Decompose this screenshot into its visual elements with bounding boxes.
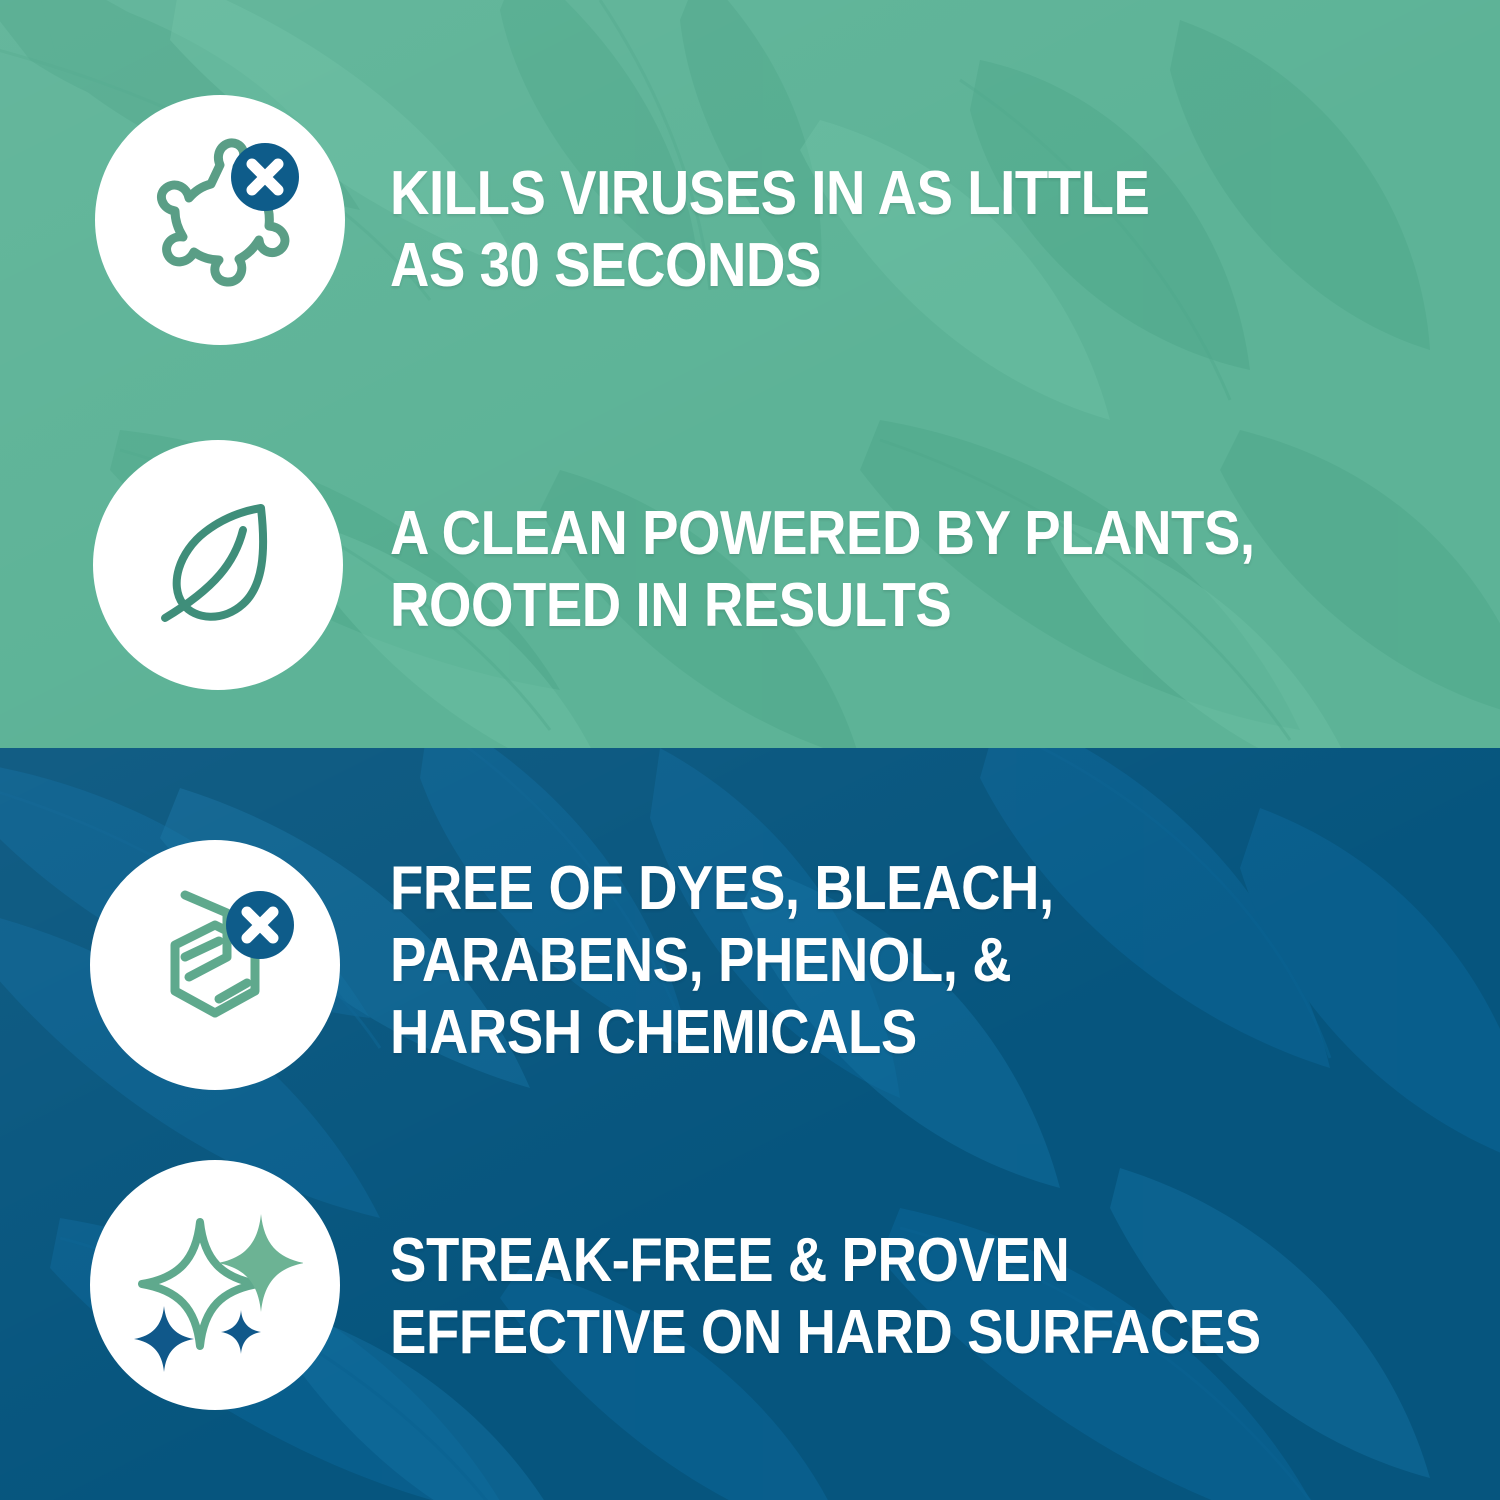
x-badge-icon bbox=[226, 891, 294, 959]
chemical-free-icon bbox=[123, 873, 308, 1058]
feature-text-free-of-chemicals: FREE OF DYES, BLEACH, PARABENS, PHENOL, … bbox=[390, 853, 1054, 1069]
blue-section: FREE OF DYES, BLEACH, PARABENS, PHENOL, … bbox=[0, 748, 1500, 1500]
benefits-infographic: KILLS VIRUSES IN AS LITTLE AS 30 SECONDS… bbox=[0, 0, 1500, 1500]
feature-text-streak-free: STREAK-FREE & PROVEN EFFECTIVE ON HARD S… bbox=[390, 1225, 1261, 1369]
virus-icon-circle bbox=[95, 95, 345, 345]
leaf-icon-circle bbox=[93, 440, 343, 690]
sparkle-small-blue-right bbox=[221, 1310, 261, 1354]
feature-text-kills-viruses: KILLS VIRUSES IN AS LITTLE AS 30 SECONDS bbox=[390, 158, 1150, 302]
virus-blocked-icon bbox=[125, 125, 315, 315]
chemical-icon-circle bbox=[90, 840, 340, 1090]
sparkle-icon bbox=[128, 1198, 303, 1373]
green-section: KILLS VIRUSES IN AS LITTLE AS 30 SECONDS… bbox=[0, 0, 1500, 748]
feature-text-clean-powered-by-plants: A CLEAN POWERED BY PLANTS, ROOTED IN RES… bbox=[390, 498, 1255, 642]
sparkle-icon-circle bbox=[90, 1160, 340, 1410]
sparkle-filled-green bbox=[218, 1214, 303, 1312]
sparkle-small-blue-left bbox=[134, 1306, 194, 1372]
leaf-icon bbox=[143, 490, 293, 640]
x-badge-icon bbox=[231, 143, 299, 211]
